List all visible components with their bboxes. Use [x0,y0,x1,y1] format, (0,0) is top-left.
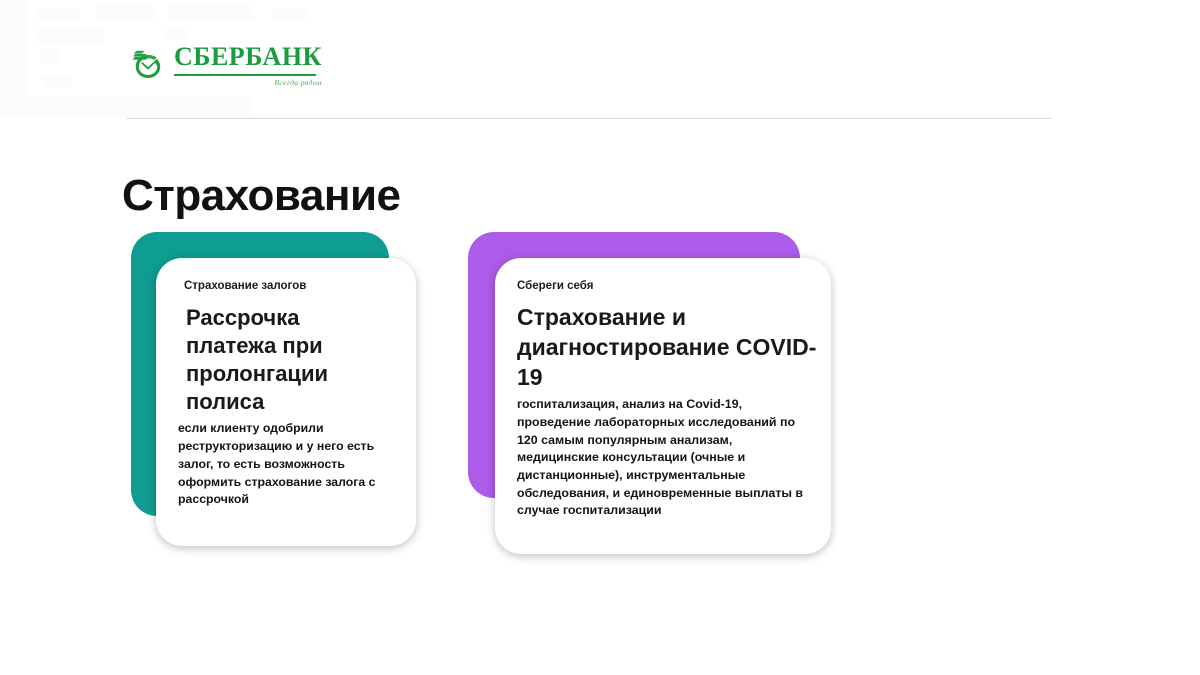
background-artifact [36,28,104,42]
background-artifact [168,6,254,20]
header-divider [126,118,1052,119]
card-pledge-insurance[interactable]: Страхование залогов Рассрочка платежа пр… [131,232,421,552]
card-heading: Страхование и диагностирование COVID-19 [517,303,817,393]
sberbank-checkmark-circle-icon [131,46,165,80]
card-kicker: Сбереги себя [517,280,817,294]
card-heading: Рассрочка платежа при пролонгации полиса [186,304,394,417]
card-body: если клиенту одобрили реструкторизацию и… [178,420,394,509]
card-body: госпитализация, анализ на Covid-19, пров… [517,396,817,519]
sberbank-logo: СБЕРБАНК Всегда рядом [131,44,322,87]
card-save-yourself[interactable]: Сбереги себя Страхование и диагностирова… [468,232,838,562]
background-artifact [96,6,154,20]
slide-canvas: СБЕРБАНК Всегда рядом Страхование Страхо… [0,0,1200,675]
background-artifact [8,48,30,64]
card-kicker: Страхование залогов [184,280,394,294]
background-artifact [272,8,306,20]
brand-underline [174,74,316,76]
background-artifact [42,76,72,88]
background-artifact [0,96,250,118]
card-sheet: Сбереги себя Страхование и диагностирова… [495,258,831,554]
brand-text-block: СБЕРБАНК Всегда рядом [174,44,322,87]
brand-tagline: Всегда рядом [274,78,321,87]
background-artifact [0,0,30,96]
background-artifact [40,48,62,64]
card-sheet: Страхование залогов Рассрочка платежа пр… [156,258,416,546]
page-title: Страхование [122,172,400,220]
background-artifact [162,26,186,40]
background-artifact [38,8,80,20]
brand-wordmark: СБЕРБАНК [174,44,322,70]
